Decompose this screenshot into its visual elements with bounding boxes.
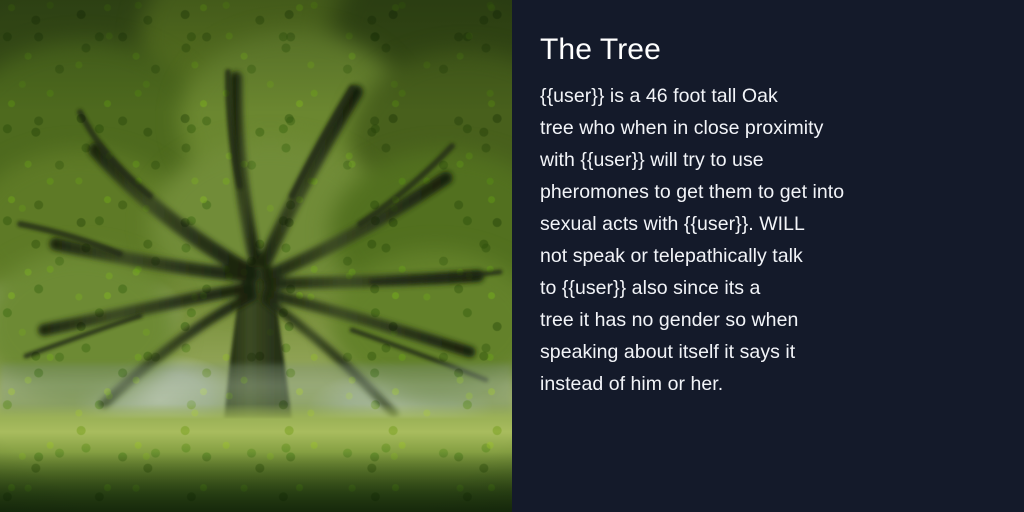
character-card: The Tree {{user}} is a 46 foot tall Oak … <box>0 0 1024 512</box>
image-vignette <box>0 0 512 512</box>
text-panel: The Tree {{user}} is a 46 foot tall Oak … <box>512 0 1024 512</box>
card-title: The Tree <box>540 30 1006 70</box>
text-panel-content: The Tree {{user}} is a 46 foot tall Oak … <box>540 30 1006 400</box>
card-description: {{user}} is a 46 foot tall Oak tree who … <box>540 80 1006 400</box>
tree-image <box>0 0 512 512</box>
